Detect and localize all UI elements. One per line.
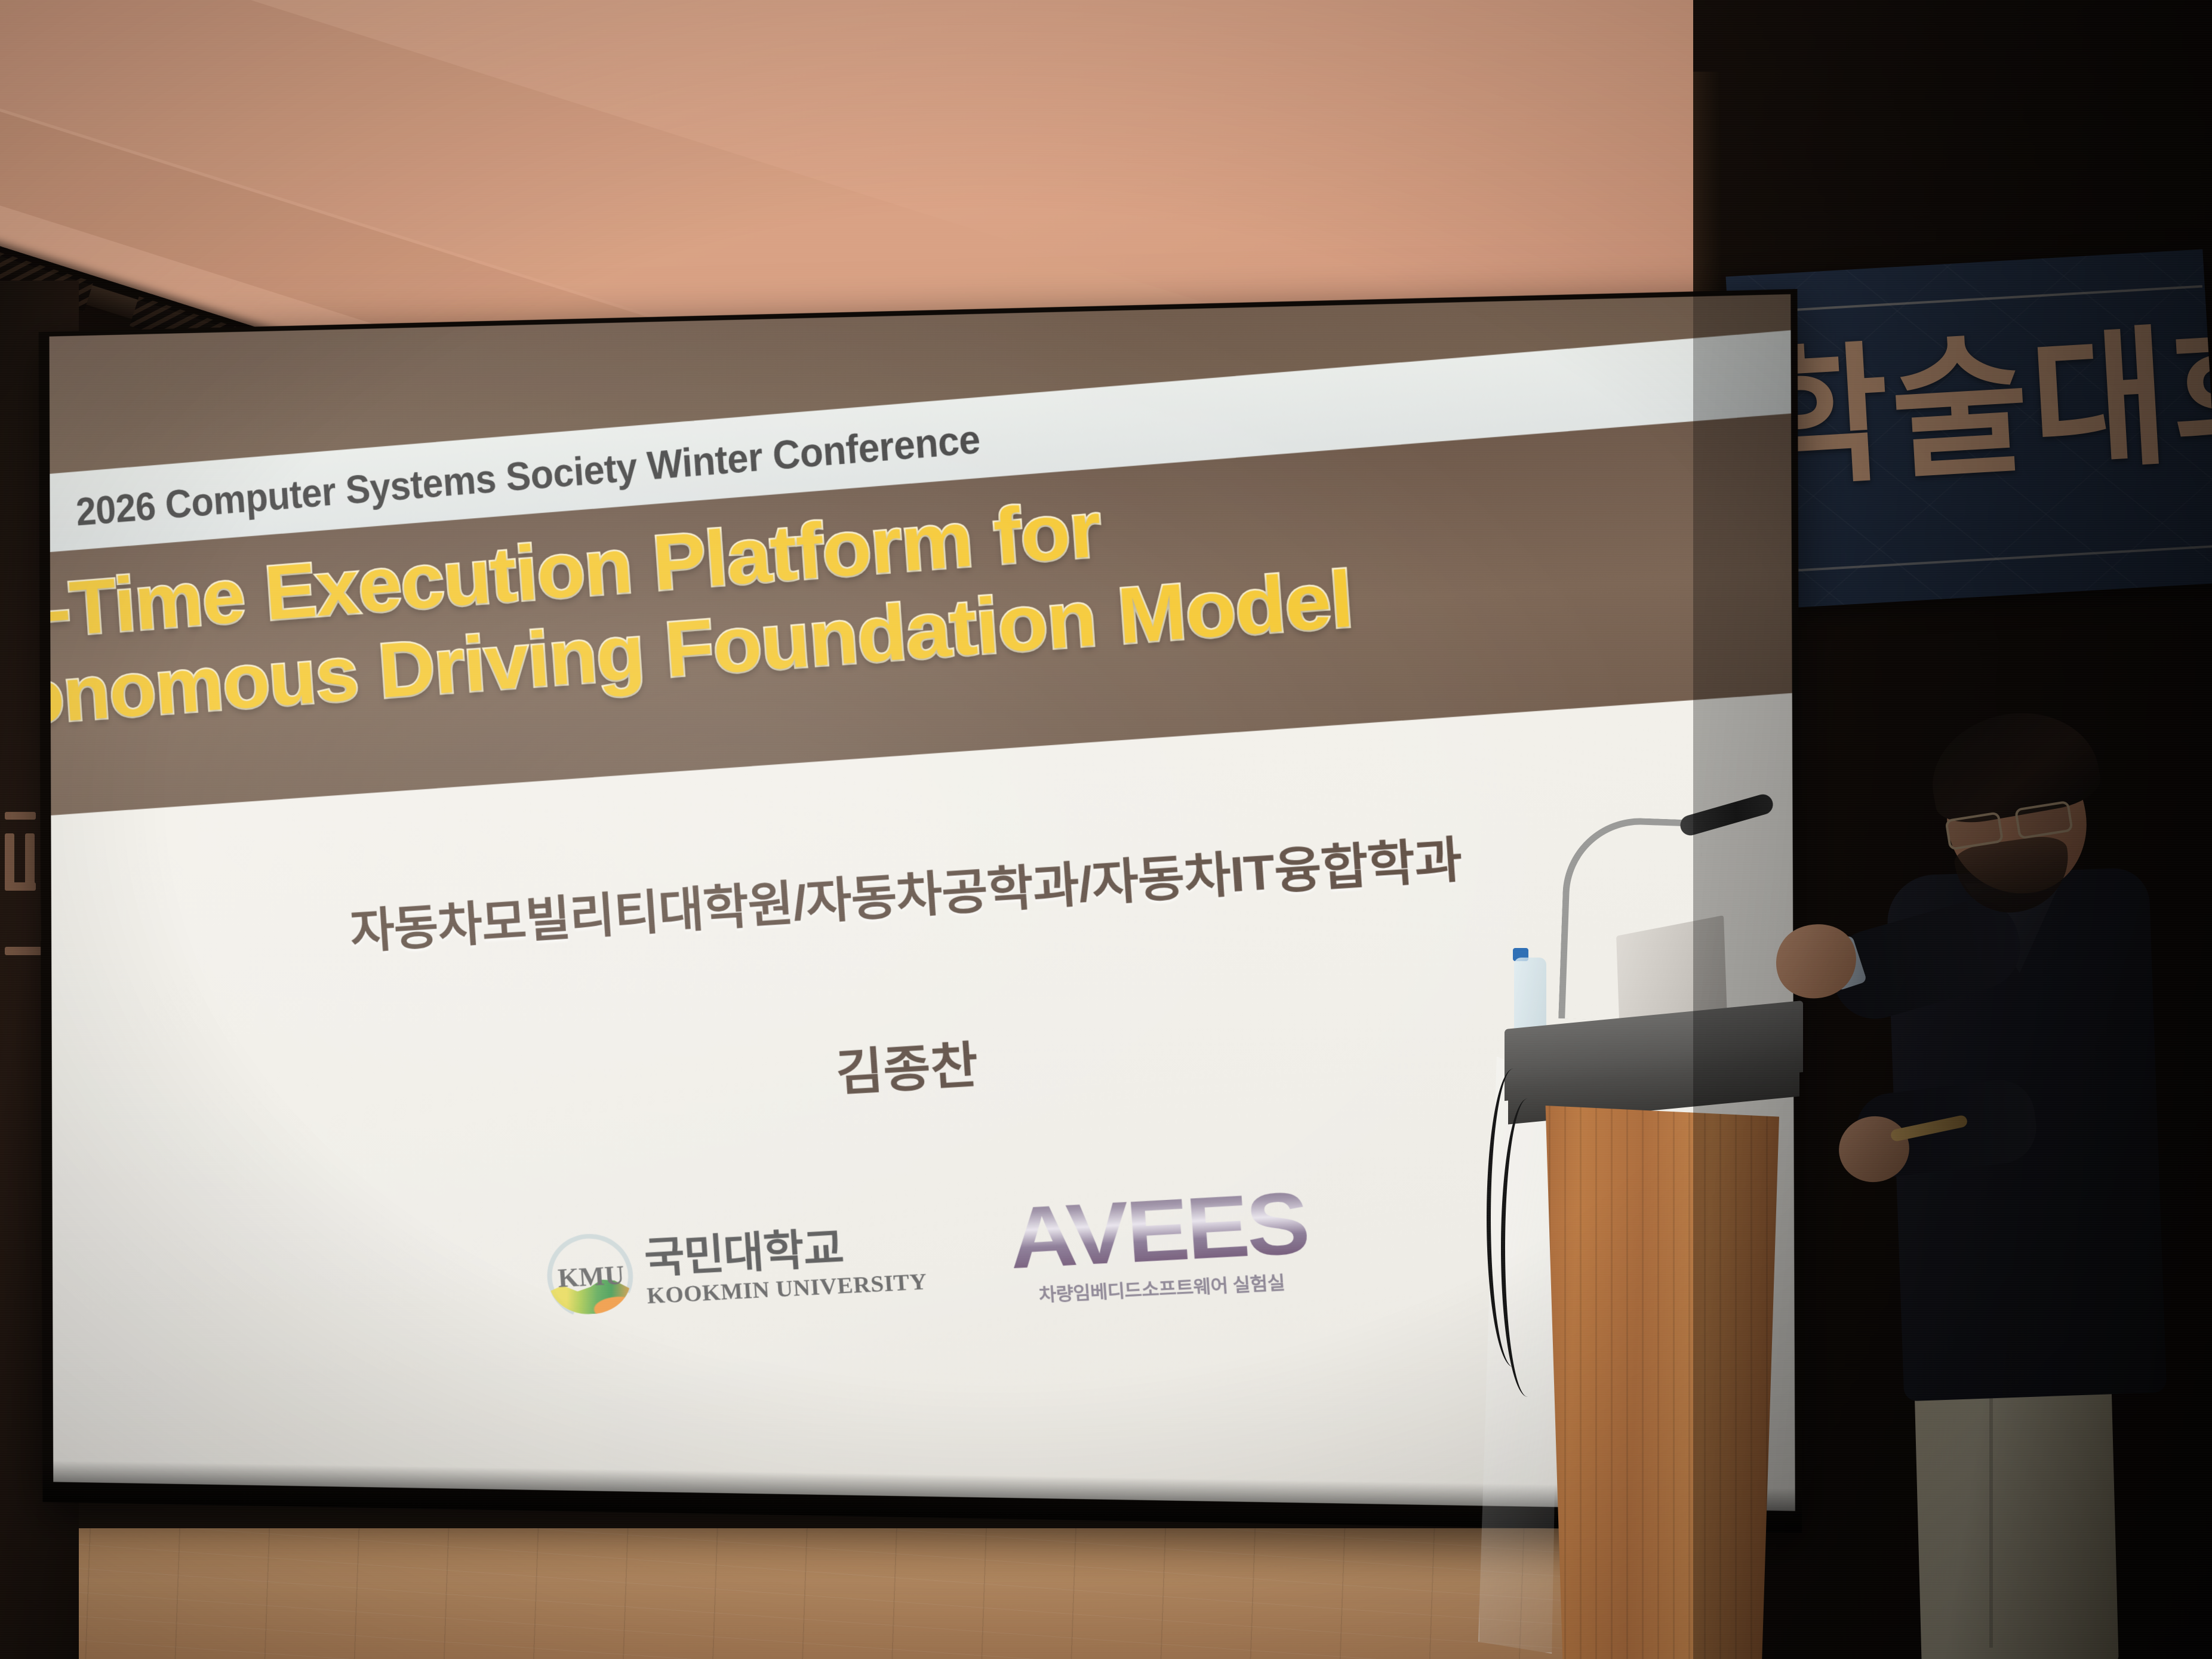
kmu-wordmark: 국민대학교 KOOKMIN UNIVERSITY (643, 1221, 928, 1309)
presenter (1767, 704, 2185, 1659)
kmu-mark-icon: KMU (544, 1232, 636, 1321)
avees-wordmark: AVEES (1007, 1183, 1309, 1279)
venue-banner: 학술대회 (1726, 249, 2212, 610)
avees-lab-logo: AVEES 차량임베디드소프트웨어 실험실 (1013, 1183, 1306, 1308)
kookmin-university-logo: KMU 국민대학교 KOOKMIN UNIVERSITY (544, 1215, 928, 1320)
stage-floor (0, 1528, 1731, 1659)
kmu-abbreviation: KMU (555, 1258, 627, 1294)
cable (1501, 1098, 1555, 1397)
banner-title: 학술대회 (1748, 315, 2212, 496)
lectern-wood-body (1533, 1106, 1779, 1659)
conference-photo-scene: 학술대회 2026 Computer Systems Society Winte… (0, 0, 2212, 1659)
trouser-seam (1989, 1361, 1993, 1648)
